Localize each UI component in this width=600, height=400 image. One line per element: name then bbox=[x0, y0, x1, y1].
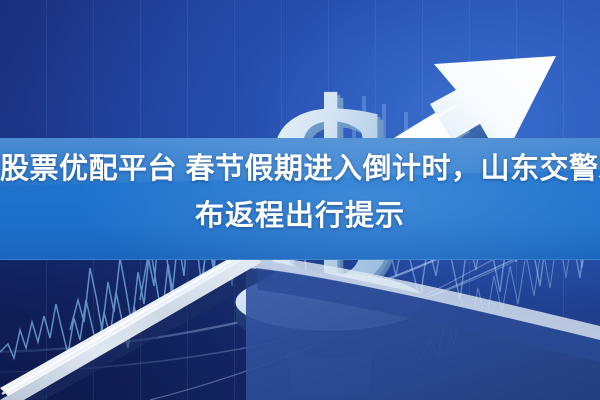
banner-image: $ $ $ bbox=[0, 0, 600, 400]
headline-line-2: 布返程出行提示 bbox=[0, 193, 600, 240]
page-title: 股票优配平台 春节假期进入倒计时，山东交警发 布返程出行提示 bbox=[0, 146, 600, 240]
headline-line-1: 股票优配平台 春节假期进入倒计时，山东交警发 bbox=[0, 146, 600, 193]
